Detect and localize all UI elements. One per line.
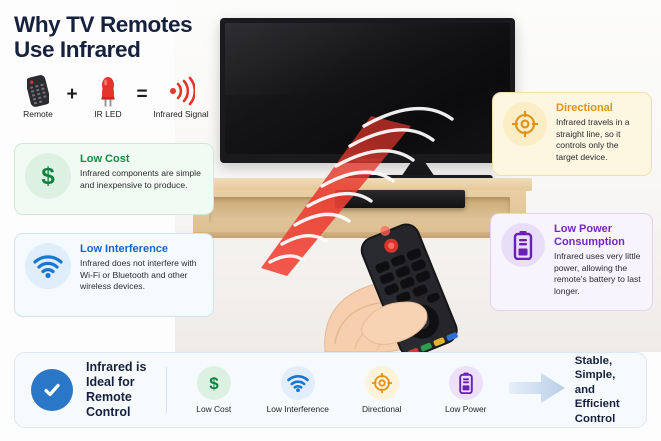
plus-sign-icon: + (62, 78, 82, 112)
summary-pill-directional[interactable]: Directional (347, 366, 417, 414)
summary-title-line-1: Infrared is Ideal for (86, 360, 152, 390)
summary-pill-low-power[interactable]: Low Power (431, 366, 501, 414)
equation-label-ir-led: IR LED (84, 109, 132, 119)
feature-card-low-cost[interactable]: $ Low Cost Infrared components are simpl… (14, 143, 214, 215)
page-title: Why TV Remotes Use Infrared (14, 12, 229, 62)
ir-led-icon (84, 74, 132, 108)
screen-glare (225, 23, 510, 95)
summary-divider (166, 367, 167, 413)
summary-pill-label: Low Cost (179, 404, 249, 414)
title-line-2: Use Infrared (14, 37, 229, 62)
feature-card-body: Infrared uses very little power, allowin… (554, 251, 642, 297)
equation-item-signal: Infrared Signal (148, 74, 214, 119)
summary-pill-low-cost[interactable]: $ Low Cost (179, 366, 249, 414)
feature-card-text: Low Interference Infrared does not inter… (80, 243, 203, 307)
check-circle-icon (31, 369, 73, 411)
infrared-signal-icon (148, 74, 214, 108)
equation-label-signal: Infrared Signal (148, 109, 214, 119)
tv-screen (225, 23, 510, 154)
feature-card-text: Directional Infrared travels in a straig… (556, 102, 641, 166)
crosshair-target-icon (365, 366, 399, 400)
title-line-1: Why TV Remotes (14, 12, 229, 37)
summary-pill-label: Low Interference (263, 404, 333, 414)
feature-card-heading: Low Interference (80, 243, 203, 256)
feature-card-low-interference[interactable]: Low Interference Infrared does not inter… (14, 233, 214, 317)
summary-pill-label: Low Power (431, 404, 501, 414)
svg-text:$: $ (209, 374, 219, 393)
equation-row: Remote + IR LED = (14, 74, 214, 124)
summary-title: Infrared is Ideal for Remote Control (86, 360, 152, 420)
feature-card-text: Low Cost Infrared components are simple … (80, 153, 203, 205)
right-arrow-icon (509, 371, 565, 410)
equation-item-ir-led: IR LED (84, 74, 132, 119)
feature-card-body: Infrared does not interfere with Wi-Fi o… (80, 258, 203, 293)
feature-card-body: Infrared components are simple and inexp… (80, 168, 203, 191)
flat-screen-tv-icon (220, 18, 515, 163)
outcome-line-2: and Efficient (575, 383, 630, 412)
summary-pill-label: Directional (347, 404, 417, 414)
infographic-canvas: OK Why TV Remotes Use Infrared (0, 0, 661, 441)
summary-bar: Infrared is Ideal for Remote Control $ L… (14, 352, 647, 428)
summary-pill-low-interference[interactable]: Low Interference (263, 366, 333, 414)
feature-card-directional[interactable]: Directional Infrared travels in a straig… (492, 92, 652, 176)
dollar-sign-icon: $ (197, 366, 231, 400)
dollar-sign-icon: $ (25, 153, 71, 199)
feature-card-heading: Directional (556, 102, 641, 115)
tv-brand-mark (355, 159, 381, 161)
wifi-icon (25, 243, 71, 289)
outcome-line-3: Control (575, 412, 630, 426)
soundbar-icon (335, 190, 465, 208)
feature-card-heading: Low Power Consumption (554, 223, 642, 249)
svg-text:$: $ (41, 163, 55, 190)
equation-operator-plus: + (62, 78, 82, 112)
outcome-line-1: Stable, Simple, (575, 354, 630, 383)
feature-card-low-power[interactable]: Low Power Consumption Infrared uses very… (490, 213, 653, 311)
feature-card-heading: Low Cost (80, 153, 203, 166)
equation-item-remote: Remote (14, 74, 62, 119)
battery-icon (449, 366, 483, 400)
battery-icon (501, 223, 545, 267)
feature-card-text: Low Power Consumption Infrared uses very… (554, 223, 642, 301)
summary-outcome: Stable, Simple, and Efficient Control (575, 354, 630, 426)
crosshair-target-icon (503, 102, 547, 146)
summary-title-line-2: Remote Control (86, 390, 152, 420)
wifi-icon (281, 366, 315, 400)
tv-remote-icon (14, 74, 62, 108)
equation-label-remote: Remote (14, 109, 62, 119)
feature-card-body: Infrared travels in a straight line, so … (556, 117, 641, 163)
summary-pill-list: $ Low Cost Low Interferen (179, 366, 501, 414)
